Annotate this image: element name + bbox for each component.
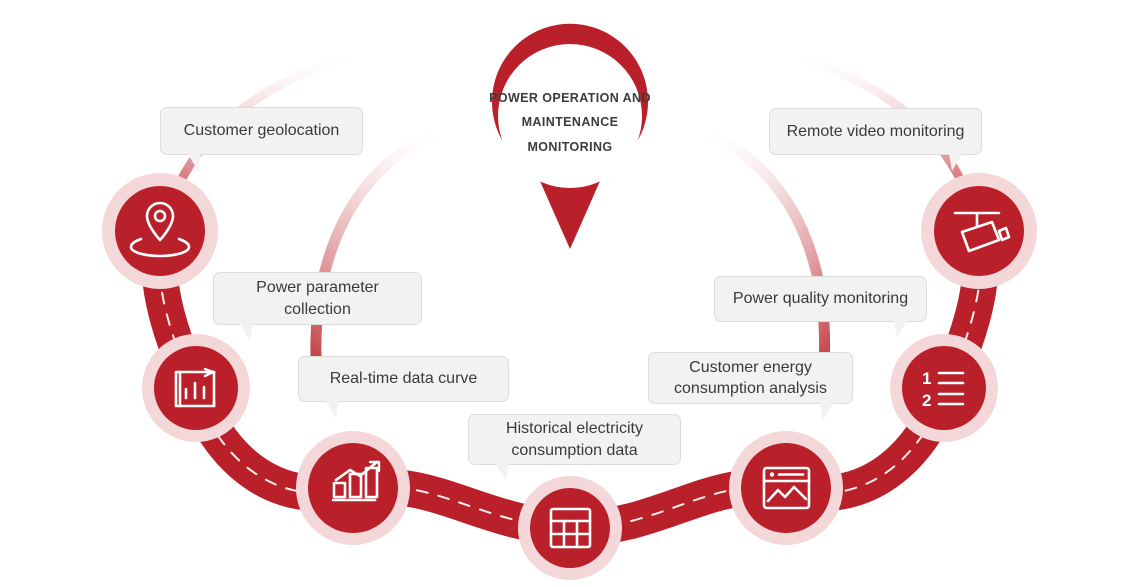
callout-customer-energy-consumption-analysis[interactable]: Customer energy consumption analysis <box>648 352 853 404</box>
callout-tail-power-parameter-collection <box>240 324 253 341</box>
callout-label-customer-geolocation: Customer geolocation <box>184 120 340 141</box>
callout-real-time-data-curve[interactable]: Real-time data curve <box>298 356 509 402</box>
node-disc-real-time-data-curve[interactable] <box>308 443 398 533</box>
node-disc-historical-electricity-consumption-data[interactable] <box>530 488 610 568</box>
node-disc-power-quality-monitoring[interactable] <box>902 346 986 430</box>
infographic-canvas: 1 2 POWER OPERATION AND MAINTENANCE MONI… <box>0 0 1139 587</box>
callout-power-quality-monitoring[interactable]: Power quality monitoring <box>714 276 927 322</box>
callout-label-remote-video-monitoring: Remote video monitoring <box>787 121 965 142</box>
roadmap-graphic: 1 2 <box>0 0 1139 587</box>
callout-tail-power-quality-monitoring <box>894 321 907 338</box>
node-disc-customer-energy-consumption-analysis[interactable] <box>741 443 831 533</box>
callout-historical-electricity-consumption-data[interactable]: Historical electricity consumption data <box>468 414 681 465</box>
center-pin-inner-circle <box>498 44 642 188</box>
callout-label-power-quality-monitoring: Power quality monitoring <box>733 288 908 309</box>
node-disc-remote-video-monitoring[interactable] <box>934 186 1024 276</box>
node-disc-customer-geolocation[interactable] <box>115 186 205 276</box>
decorative-arc-inner-left <box>316 118 505 390</box>
callout-tail-customer-geolocation <box>188 154 201 171</box>
callout-tail-real-time-data-curve <box>326 401 339 418</box>
callout-customer-geolocation[interactable]: Customer geolocation <box>160 107 363 155</box>
callout-power-parameter-collection[interactable]: Power parameter collection <box>213 272 422 325</box>
callout-tail-historical-electricity-consumption-data <box>496 464 509 481</box>
callout-label-power-parameter-collection: Power parameter collection <box>256 277 379 319</box>
decorative-arc-inner-right <box>640 118 825 390</box>
center-map-pin <box>492 24 648 249</box>
svg-text:2: 2 <box>922 391 931 410</box>
callout-label-real-time-data-curve: Real-time data curve <box>330 368 478 389</box>
callout-label-historical-electricity-consumption-data: Historical electricity consumption data <box>506 418 643 460</box>
svg-text:1: 1 <box>922 369 931 388</box>
callout-label-customer-energy-consumption-analysis: Customer energy consumption analysis <box>674 357 827 399</box>
callout-tail-customer-energy-consumption-analysis <box>820 403 833 420</box>
callout-remote-video-monitoring[interactable]: Remote video monitoring <box>769 108 982 155</box>
callout-tail-remote-video-monitoring <box>949 154 962 171</box>
